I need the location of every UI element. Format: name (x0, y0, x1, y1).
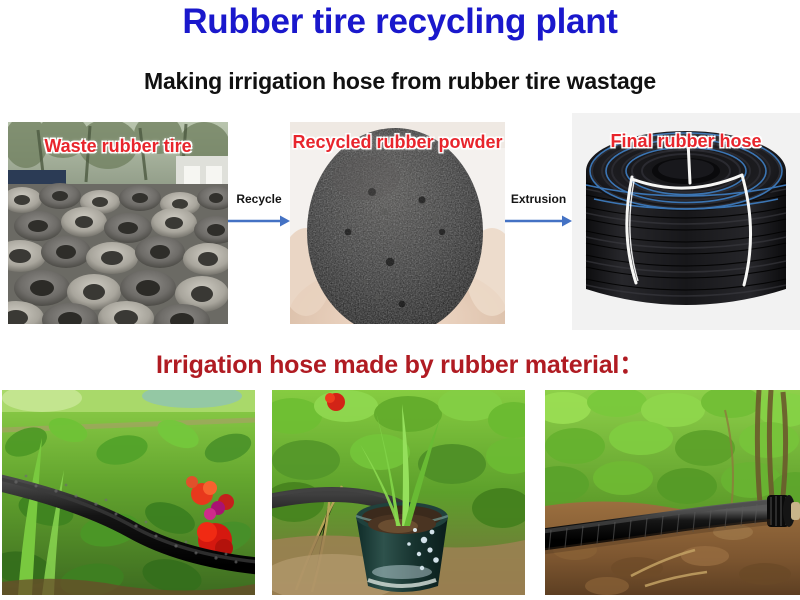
section-heading-gallery: Irrigation hose made by rubber material： (0, 345, 800, 381)
rubber-powder-illustration (290, 122, 505, 324)
arrow-shaft-extrusion (505, 192, 572, 232)
page-subtitle: Making irrigation hose from rubber tire … (0, 68, 800, 95)
poster-canvas: Rubber tire recycling plant Making irrig… (0, 0, 800, 600)
gallery-photo-hose-watering-pot (272, 390, 525, 595)
page-title: Rubber tire recycling plant (0, 2, 800, 42)
photo-recycled-rubber-powder: Recycled rubber powder (290, 122, 505, 324)
hose-coil-illustration (572, 113, 800, 330)
gallery-photo-hose-in-flower-bed (2, 390, 255, 595)
hose-pot-illustration (272, 390, 525, 595)
photo-final-rubber-hose: Final rubber hose (572, 113, 800, 330)
arrow-recycle: Recycle (228, 192, 290, 232)
hose-flowerbed-illustration (2, 390, 255, 595)
arrow-shaft-recycle (228, 192, 290, 232)
hose-soil-illustration (545, 390, 800, 595)
photo-waste-rubber-tire: Waste rubber tire (8, 122, 228, 324)
waste-tire-illustration (8, 122, 228, 324)
arrow-extrusion: Extrusion (505, 192, 572, 232)
gallery-photo-hose-on-soil (545, 390, 800, 595)
